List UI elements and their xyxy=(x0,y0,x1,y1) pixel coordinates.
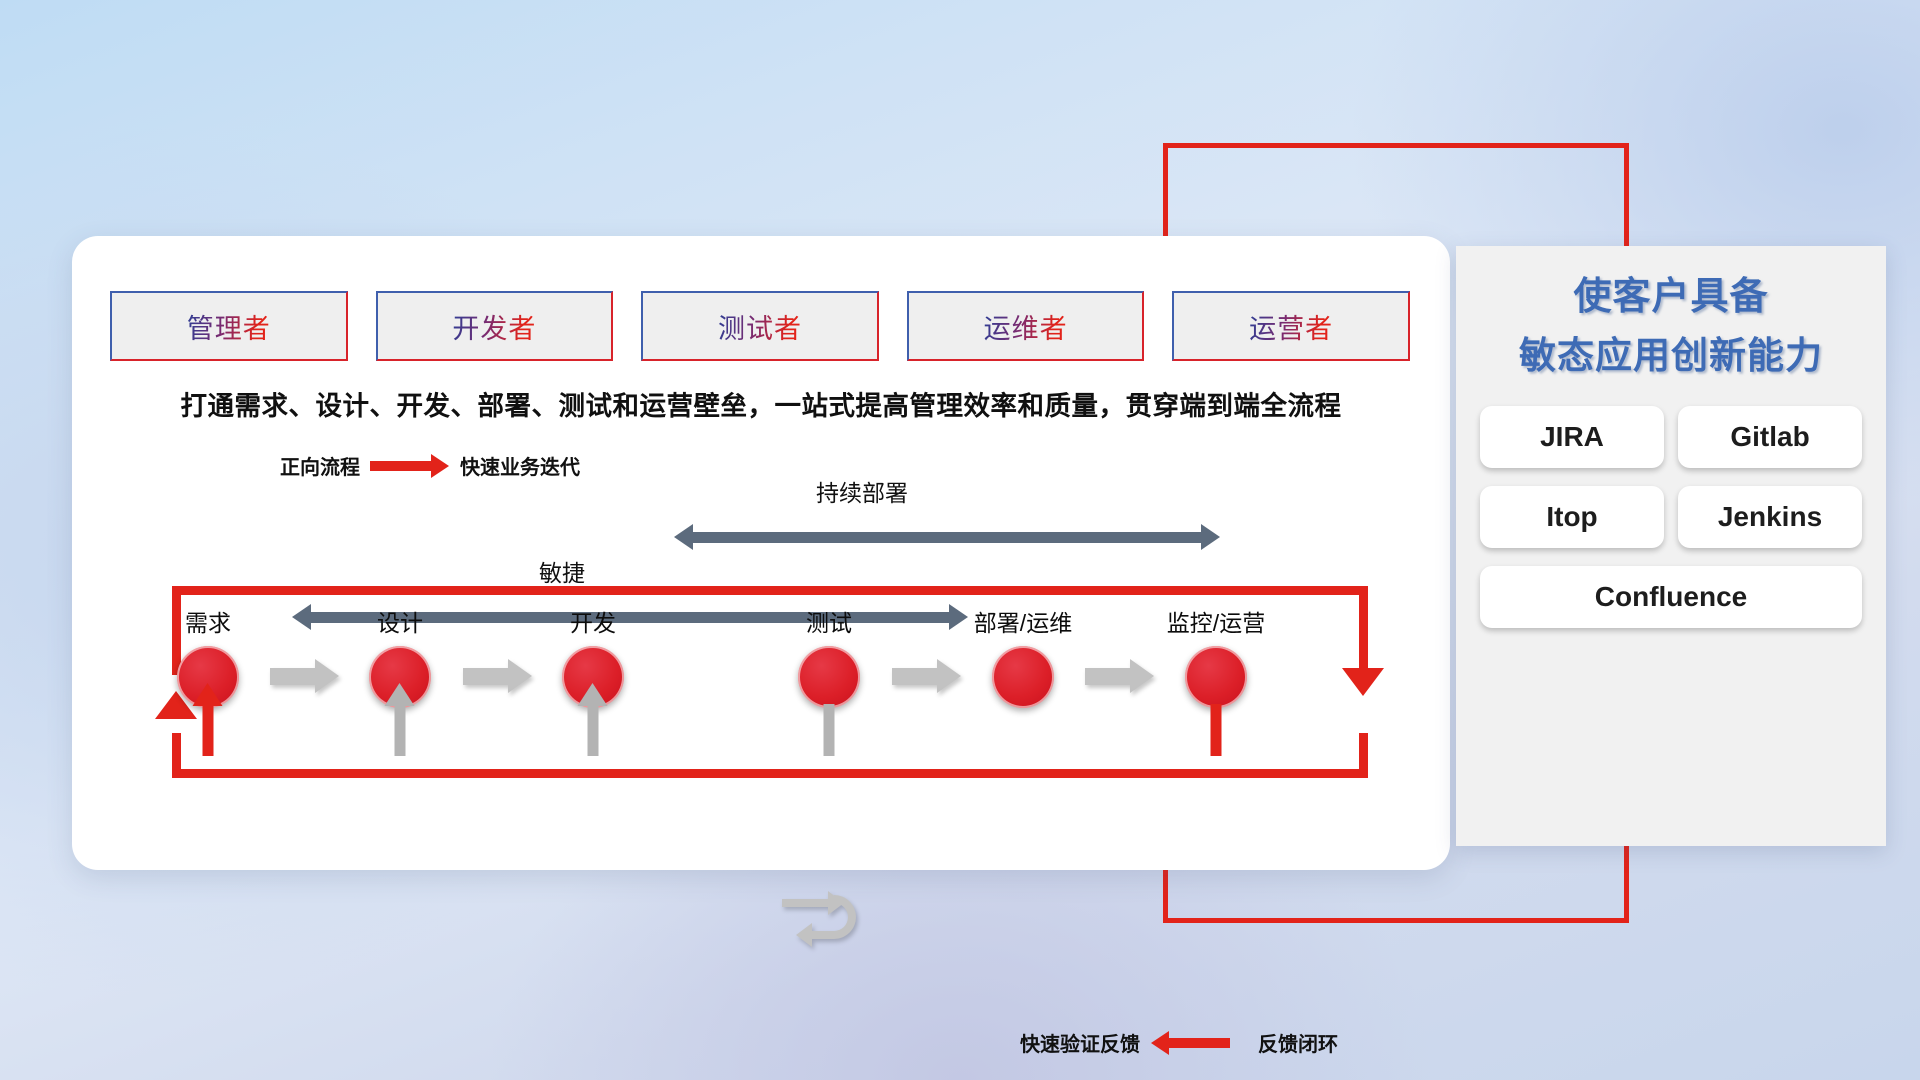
stage-circle-icon xyxy=(798,646,860,708)
slide-canvas: 管理者 开发者 测试者 运维者 运营者 打通需求、设计、开发、部署、测试和运营壁… xyxy=(0,0,1920,1080)
stage-label: 开发 xyxy=(570,604,616,638)
pipeline-stage-monitor-operate[interactable]: 监控/运营 xyxy=(1185,646,1247,708)
tool-button-confluence[interactable]: Confluence xyxy=(1480,566,1862,628)
pipeline-stage-design[interactable]: 设计 xyxy=(369,646,431,708)
pipeline-row: 需求 设计 开发 测试 部署/运维 xyxy=(72,236,1450,870)
main-diagram-card: 管理者 开发者 测试者 运维者 运营者 打通需求、设计、开发、部署、测试和运营壁… xyxy=(72,236,1450,870)
stage-stem-red-up-arrow-icon xyxy=(203,704,214,756)
arrow-left-red-icon xyxy=(1168,1038,1230,1048)
stage-label: 部署/运维 xyxy=(974,604,1072,638)
stage-stem-gray-up-arrow-icon xyxy=(588,704,599,756)
tool-button-jenkins[interactable]: Jenkins xyxy=(1678,486,1862,548)
tool-button-gitlab[interactable]: Gitlab xyxy=(1678,406,1862,468)
stage-label: 监控/运营 xyxy=(1167,604,1265,638)
pipeline-stage-testing[interactable]: 测试 xyxy=(798,646,860,708)
pipeline-stage-development[interactable]: 开发 xyxy=(562,646,624,708)
tool-button-jira[interactable]: JIRA xyxy=(1480,406,1664,468)
tool-button-itop[interactable]: Itop xyxy=(1480,486,1664,548)
legend-feedback-right-label: 反馈闭环 xyxy=(1258,1028,1338,1057)
pipeline-stage-deploy-ops[interactable]: 部署/运维 xyxy=(992,646,1054,708)
panel-title-line2: 敏态应用创新能力 xyxy=(1480,327,1862,384)
connector-gray-arrow-icon xyxy=(270,668,316,685)
stage-circle-icon xyxy=(1185,646,1247,708)
tool-button-grid: JIRA Gitlab Itop Jenkins Confluence xyxy=(1480,406,1862,628)
connector-gray-arrow-icon xyxy=(1085,668,1131,685)
stage-stem-gray-icon xyxy=(824,704,835,756)
value-proposition-panel: 使客户具备 敏态应用创新能力 JIRA Gitlab Itop Jenkins … xyxy=(1456,246,1886,846)
pipeline-stage-requirements[interactable]: 需求 xyxy=(177,646,239,708)
stage-stem-red-icon xyxy=(1211,704,1222,756)
stage-label: 设计 xyxy=(377,604,423,638)
stage-circle-icon xyxy=(992,646,1054,708)
stage-label: 测试 xyxy=(806,604,852,638)
connector-gray-arrow-icon xyxy=(892,668,938,685)
legend-feedback-left-label: 快速验证反馈 xyxy=(1020,1028,1140,1057)
connector-gray-arrow-icon xyxy=(463,668,509,685)
uturn-loop-icon xyxy=(782,891,874,953)
stage-label: 需求 xyxy=(185,604,231,638)
legend-feedback-loop: 快速验证反馈 反馈闭环 xyxy=(1020,1028,1338,1057)
panel-title-line1: 使客户具备 xyxy=(1480,268,1862,327)
stage-stem-gray-up-arrow-icon xyxy=(395,704,406,756)
